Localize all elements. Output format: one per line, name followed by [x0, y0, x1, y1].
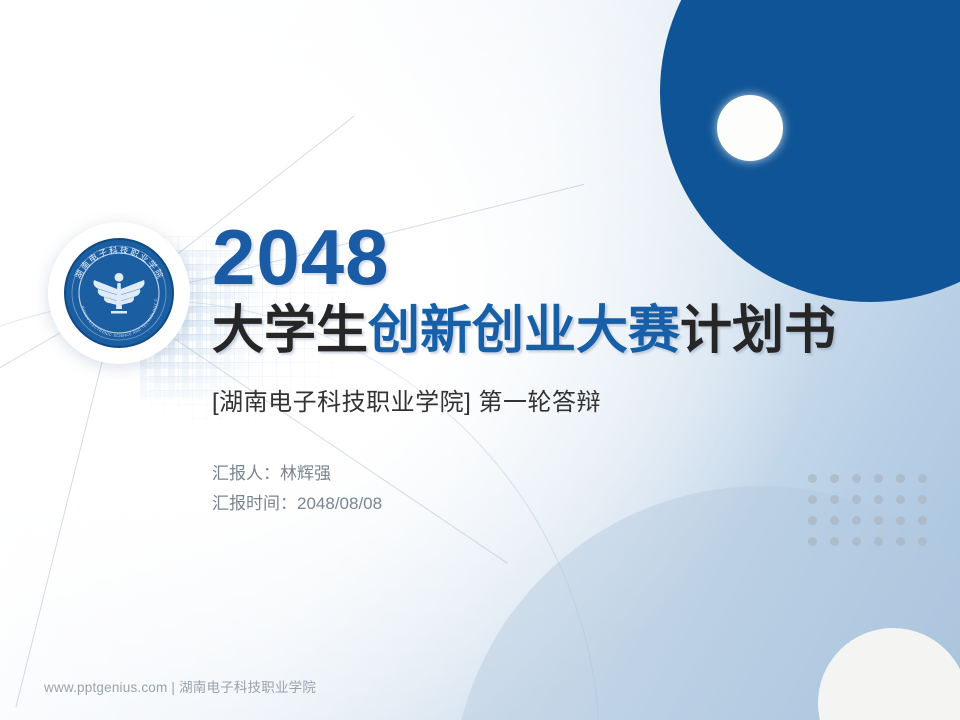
college-logo: 湖南电子科技职业学院 HUNAN ELECTRONIC SCIENCE AND … [48, 222, 190, 364]
grid-dot [808, 537, 817, 546]
headline-title: 大学生创新创业大赛计划书 [212, 302, 912, 360]
presentation-meta: 汇报人：林辉强 汇报时间：2048/08/08 [212, 459, 912, 519]
white-circle-large-decoration [818, 628, 960, 720]
date-text: 汇报时间：2048/08/08 [212, 489, 912, 519]
grid-dot [918, 537, 927, 546]
subtitle-text: [湖南电子科技职业学院] 第一轮答辩 [212, 382, 912, 417]
grid-dot [830, 537, 839, 546]
grid-dot [918, 516, 927, 525]
presentation-slide: 湖南电子科技职业学院 HUNAN ELECTRONIC SCIENCE AND … [0, 0, 960, 720]
grid-dot [874, 537, 883, 546]
headline-part-dark-1: 大学生 [212, 302, 368, 360]
presenter-text: 汇报人：林辉强 [212, 459, 912, 489]
soft-arc-shape [452, 486, 960, 720]
college-emblem-icon: 湖南电子科技职业学院 HUNAN ELECTRONIC SCIENCE AND … [63, 237, 175, 349]
white-circle-small-decoration [717, 95, 783, 161]
footer-text: www.pptgenius.com | 湖南电子科技职业学院 [44, 676, 316, 696]
grid-dot [918, 474, 927, 483]
title-block: 2048 大学生创新创业大赛计划书 [湖南电子科技职业学院] 第一轮答辩 汇报人… [212, 218, 912, 519]
headline-part-dark-2: 计划书 [680, 302, 836, 360]
headline-part-blue: 创新创业大赛 [368, 302, 680, 360]
year-title: 2048 [212, 218, 912, 296]
grid-dot [896, 537, 905, 546]
grid-dot [852, 537, 861, 546]
grid-dot [918, 495, 927, 504]
